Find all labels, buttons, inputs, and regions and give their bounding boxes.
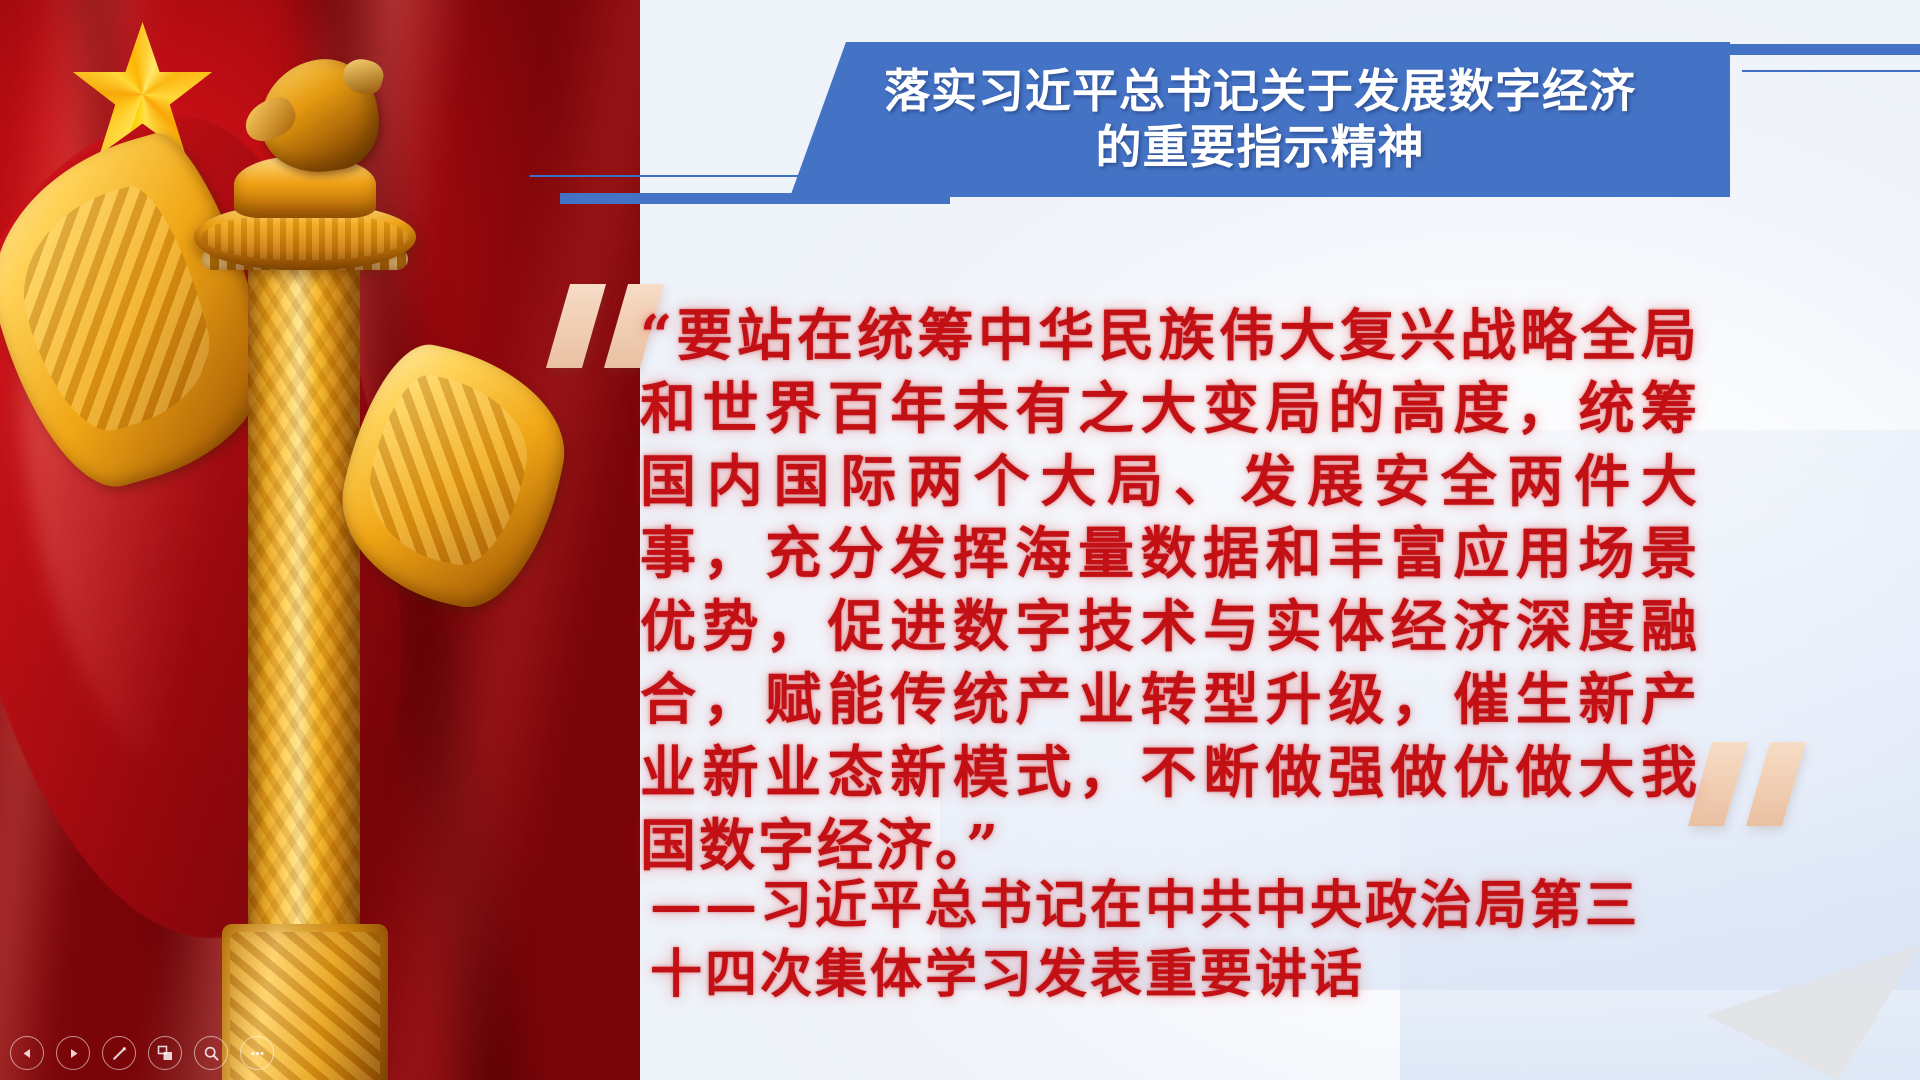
next-slide-button[interactable] [56, 1036, 90, 1070]
attribution-line-2: 十四次集体学习发表重要讲话 [650, 941, 1710, 1010]
slide-overview-button[interactable] [148, 1036, 182, 1070]
quote-stroke [1746, 742, 1806, 826]
grid-slides-icon [157, 1045, 174, 1062]
ellipsis-icon [249, 1045, 266, 1062]
page-title-line-2: 的重要指示精神 [884, 120, 1636, 175]
open-quotation-mark-icon [558, 284, 652, 368]
pen-annotation-button[interactable] [102, 1036, 136, 1070]
quote-body-text: “要站在统筹中华民族伟大复兴战略全局和世界百年未有之大变局的高度，统筹国内国际两… [640, 300, 1700, 882]
pen-icon [111, 1045, 128, 1062]
presentation-slide: 落实习近平总书记关于发展数字经济 的重要指示精神 “要站在统筹中华民族伟大复兴战… [0, 0, 1920, 1080]
page-title: 落实习近平总书记关于发展数字经济 的重要指示精神 [850, 64, 1670, 174]
presenter-toolbar [10, 1036, 274, 1070]
magnifier-icon [203, 1045, 220, 1062]
huabiao-column [188, 52, 508, 1080]
red-flag-artwork [0, 0, 640, 1080]
corner-fold-decoration [1705, 945, 1920, 1080]
quote-attribution: ——习近平总书记在中共中央政治局第三 十四次集体学习发表重要讲话 [650, 872, 1710, 1009]
decor-line-right-thin [1742, 70, 1920, 72]
attribution-line-1: ——习近平总书记在中共中央政治局第三 [650, 872, 1710, 941]
triangle-right-icon [67, 1047, 80, 1060]
previous-slide-button[interactable] [10, 1036, 44, 1070]
triangle-left-icon [21, 1047, 34, 1060]
title-banner: 落实习近平总书记关于发展数字经济 的重要指示精神 [790, 42, 1730, 197]
more-options-button[interactable] [240, 1036, 274, 1070]
zoom-magnify-button[interactable] [194, 1036, 228, 1070]
close-quotation-mark-icon [1700, 742, 1794, 826]
page-title-line-1: 落实习近平总书记关于发展数字经济 [884, 64, 1636, 119]
